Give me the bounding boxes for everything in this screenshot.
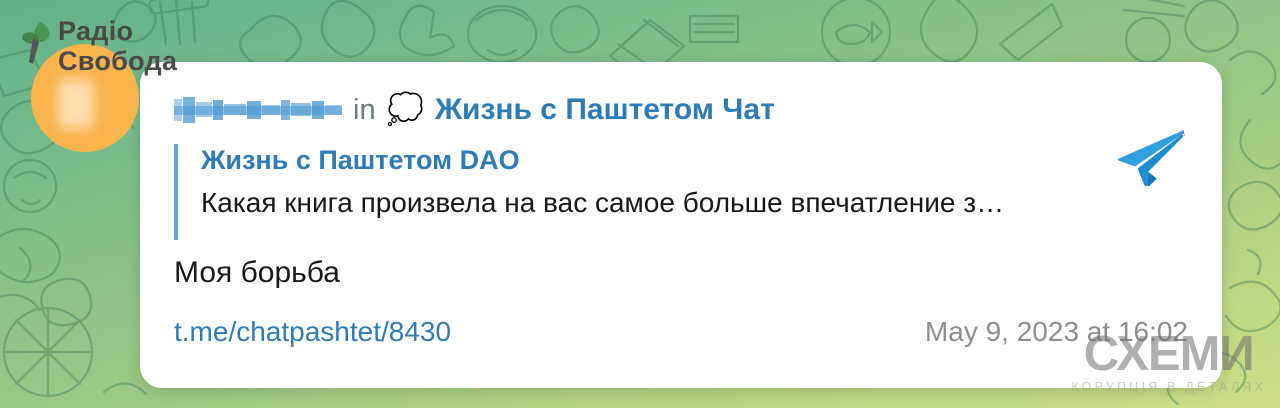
avatar-redaction-blur <box>58 80 94 128</box>
quoted-message: Жизнь с Паштетом DAO Какая книга произве… <box>174 144 1188 240</box>
logo-line-2: Свобода <box>58 48 177 75</box>
screenshot-root: Радіо Свобода in 💭 Жиз <box>0 0 1280 408</box>
telegram-message-card: in 💭 Жизнь с Паштетом Чат Жизнь с Паштет… <box>140 62 1222 388</box>
preposition-in: in <box>353 94 376 127</box>
flame-leaf-icon <box>18 20 52 66</box>
telegram-plane-icon <box>1114 126 1188 192</box>
radio-svoboda-logo: Радіо Свобода <box>18 18 177 75</box>
message-timestamp: May 9, 2023 at 16:02 <box>925 316 1188 348</box>
quote-source-title: Жизнь с Паштетом DAO <box>201 144 1188 178</box>
radio-svoboda-wordmark: Радіо Свобода <box>58 18 177 75</box>
thought-balloon-emoji: 💭 <box>387 95 424 125</box>
chat-title: Жизнь с Паштетом Чат <box>435 93 775 127</box>
message-footer: t.me/chatpashtet/8430 May 9, 2023 at 16:… <box>174 316 1188 348</box>
message-header: in 💭 Жизнь с Паштетом Чат <box>174 88 1188 132</box>
message-text: Моя борьба <box>174 256 1188 290</box>
message-permalink[interactable]: t.me/chatpashtet/8430 <box>174 316 451 348</box>
username-redacted <box>174 97 342 123</box>
logo-line-1: Радіо <box>58 18 177 45</box>
quote-text: Какая книга произвела на вас самое больш… <box>201 185 1188 221</box>
